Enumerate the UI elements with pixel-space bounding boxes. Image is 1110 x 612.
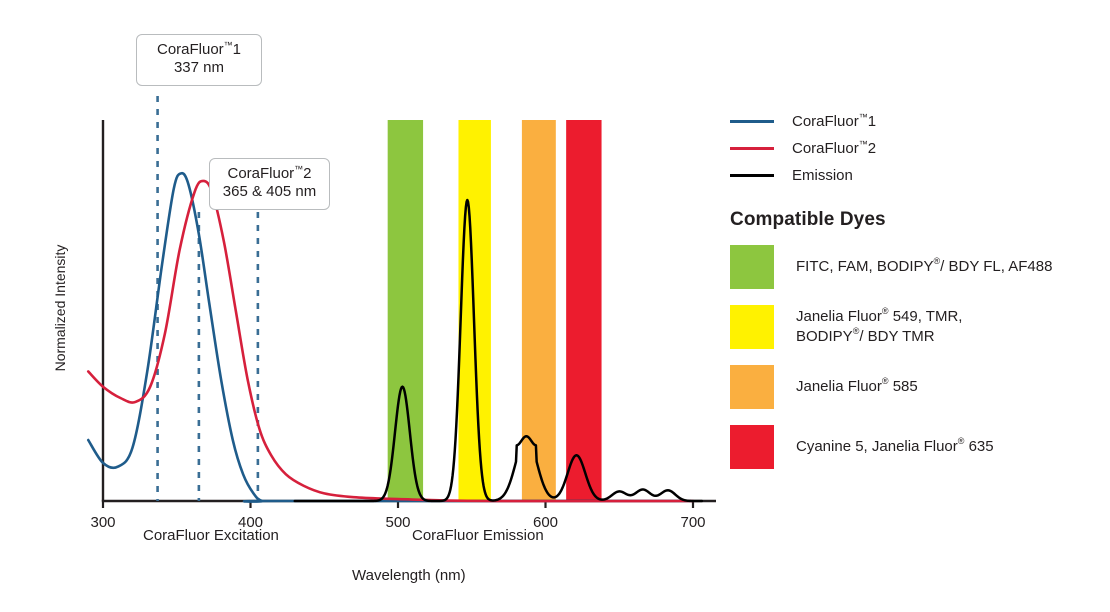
dye-color-swatch bbox=[730, 425, 774, 469]
legend-row-3: Emission bbox=[730, 162, 1100, 189]
legend-line-swatch bbox=[730, 147, 774, 150]
callout-cf1-line1: CoraFluor™1 bbox=[147, 41, 251, 59]
registered-icon: ® bbox=[934, 256, 941, 266]
orange-band bbox=[522, 120, 556, 501]
callout-corafluor2: CoraFluor™2 365 & 405 nm bbox=[209, 158, 330, 210]
trademark-icon: ™ bbox=[859, 112, 868, 122]
compatible-dyes-list: FITC, FAM, BODIPY®/ BDY FL, AF488Janelia… bbox=[730, 245, 1100, 469]
spectra-plot: 300400500600700 bbox=[0, 0, 730, 612]
dye-label-line: Janelia Fluor® 585 bbox=[796, 377, 918, 397]
registered-icon: ® bbox=[882, 376, 889, 386]
dye-label: Cyanine 5, Janelia Fluor® 635 bbox=[796, 437, 994, 457]
chart-canvas: 300400500600700 CoraFluor™1 337 nm CoraF… bbox=[0, 0, 730, 612]
callout-cf1-line2: 337 nm bbox=[147, 59, 251, 77]
legend-line-label: CoraFluor™2 bbox=[792, 140, 876, 157]
dye-color-swatch bbox=[730, 365, 774, 409]
y-axis-label: Normalized Intensity bbox=[52, 218, 68, 398]
region-label-emission: CoraFluor Emission bbox=[412, 527, 544, 544]
registered-icon: ® bbox=[958, 436, 965, 446]
red-band bbox=[566, 120, 601, 501]
callout-cf2-line1: CoraFluor™2 bbox=[220, 165, 319, 183]
dye-label: Janelia Fluor® 549, TMR,BODIPY®/ BDY TMR bbox=[796, 307, 962, 347]
dye-row-3: Janelia Fluor® 585 bbox=[730, 365, 1100, 409]
dye-label: Janelia Fluor® 585 bbox=[796, 377, 918, 397]
x-tick-label: 300 bbox=[90, 514, 115, 531]
dye-color-swatch bbox=[730, 245, 774, 289]
legend-line-label: CoraFluor™1 bbox=[792, 113, 876, 130]
registered-icon: ® bbox=[882, 306, 889, 316]
region-label-excitation: CoraFluor Excitation bbox=[143, 527, 279, 544]
dye-label-line: Cyanine 5, Janelia Fluor® 635 bbox=[796, 437, 994, 457]
trademark-icon: ™ bbox=[859, 139, 868, 149]
trademark-icon: ™ bbox=[224, 40, 233, 50]
compatible-dyes-title: Compatible Dyes bbox=[730, 209, 1100, 231]
legend-line-swatch bbox=[730, 120, 774, 123]
dye-row-2: Janelia Fluor® 549, TMR,BODIPY®/ BDY TMR bbox=[730, 305, 1100, 349]
trademark-icon: ™ bbox=[294, 164, 303, 174]
legend-row-1: CoraFluor™1 bbox=[730, 108, 1100, 135]
dye-label: FITC, FAM, BODIPY®/ BDY FL, AF488 bbox=[796, 257, 1052, 277]
dye-label-line: BODIPY®/ BDY TMR bbox=[796, 327, 962, 347]
dye-label-line: FITC, FAM, BODIPY®/ BDY FL, AF488 bbox=[796, 257, 1052, 277]
legend-row-2: CoraFluor™2 bbox=[730, 135, 1100, 162]
registered-icon: ® bbox=[853, 326, 860, 336]
legend-panel: CoraFluor™1CoraFluor™2Emission Compatibl… bbox=[730, 108, 1100, 485]
dye-color-swatch bbox=[730, 305, 774, 349]
curve-emission bbox=[295, 200, 702, 501]
dye-label-line: Janelia Fluor® 549, TMR, bbox=[796, 307, 962, 327]
figure-root: 300400500600700 CoraFluor™1 337 nm CoraF… bbox=[0, 0, 1110, 612]
dye-row-1: FITC, FAM, BODIPY®/ BDY FL, AF488 bbox=[730, 245, 1100, 289]
x-tick-label: 500 bbox=[385, 514, 410, 531]
x-axis-title: Wavelength (nm) bbox=[352, 567, 466, 584]
dye-row-4: Cyanine 5, Janelia Fluor® 635 bbox=[730, 425, 1100, 469]
legend-line-swatch bbox=[730, 174, 774, 177]
callout-cf2-line2: 365 & 405 nm bbox=[220, 183, 319, 201]
legend-line-label: Emission bbox=[792, 167, 853, 184]
x-tick-label: 700 bbox=[680, 514, 705, 531]
callout-corafluor1: CoraFluor™1 337 nm bbox=[136, 34, 262, 86]
series-legend: CoraFluor™1CoraFluor™2Emission bbox=[730, 108, 1100, 189]
